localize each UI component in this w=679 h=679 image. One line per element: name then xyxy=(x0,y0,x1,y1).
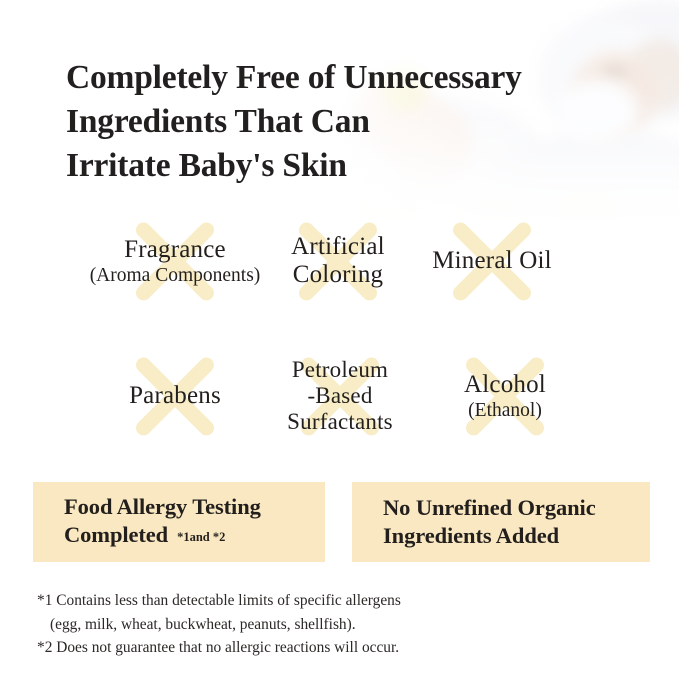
claim-label: Food Allergy Testing Completed xyxy=(64,494,261,547)
ingredient-detail: Coloring xyxy=(291,261,385,289)
excluded-ingredients-grid: Fragrance (Aroma Components) Artificial … xyxy=(0,196,679,466)
ingredient-label: Artificial Coloring xyxy=(291,233,385,289)
photo-shape-hair xyxy=(626,40,679,110)
claim-box-no-unrefined-organic: No Unrefined Organic Ingredients Added xyxy=(352,482,650,562)
ingredient-label: Mineral Oil xyxy=(432,247,552,275)
footnote-1-continued: (egg, milk, wheat, buckwheat, peanuts, s… xyxy=(37,613,637,637)
ingredient-label: Petroleum -Based Surfactants xyxy=(287,357,393,434)
ingredient-label: Parabens xyxy=(129,382,221,410)
claim-box-food-allergy-testing: Food Allergy Testing Completed*1and *2 xyxy=(33,482,325,562)
excluded-ingredient-alcohol: Alcohol (Ethanol) xyxy=(405,331,605,461)
ingredient-detail: (Ethanol) xyxy=(464,400,546,422)
ingredient-name: Mineral Oil xyxy=(432,247,552,275)
ingredient-name: Fragrance xyxy=(90,236,261,264)
ingredient-detail: -Based Surfactants xyxy=(287,383,393,435)
infographic-canvas: Completely Free of Unnecessary Ingredien… xyxy=(0,0,679,679)
footnotes: *1 Contains less than detectable limits … xyxy=(37,589,637,660)
claim-label: No Unrefined Organic Ingredients Added xyxy=(383,495,596,548)
ingredient-name: Artificial xyxy=(291,233,385,261)
claim-text: Food Allergy Testing Completed*1and *2 xyxy=(33,493,261,551)
claim-text: No Unrefined Organic Ingredients Added xyxy=(352,494,596,550)
page-title: Completely Free of Unnecessary Ingredien… xyxy=(66,56,626,188)
ingredient-detail: (Aroma Components) xyxy=(90,265,261,287)
ingredient-name: Parabens xyxy=(129,382,221,410)
ingredient-name: Petroleum xyxy=(287,357,393,383)
ingredient-label: Alcohol (Ethanol) xyxy=(464,371,546,422)
claims-row: Food Allergy Testing Completed*1and *2 N… xyxy=(33,482,650,562)
footnote-1: *1 Contains less than detectable limits … xyxy=(37,589,637,613)
ingredient-label: Fragrance (Aroma Components) xyxy=(90,236,261,287)
footnote-2: *2 Does not guarantee that no allergic r… xyxy=(37,636,637,660)
excluded-ingredient-mineral-oil: Mineral Oil xyxy=(394,196,590,326)
ingredient-name: Alcohol xyxy=(464,371,546,399)
claim-footnote-marker: *1and *2 xyxy=(168,530,225,544)
